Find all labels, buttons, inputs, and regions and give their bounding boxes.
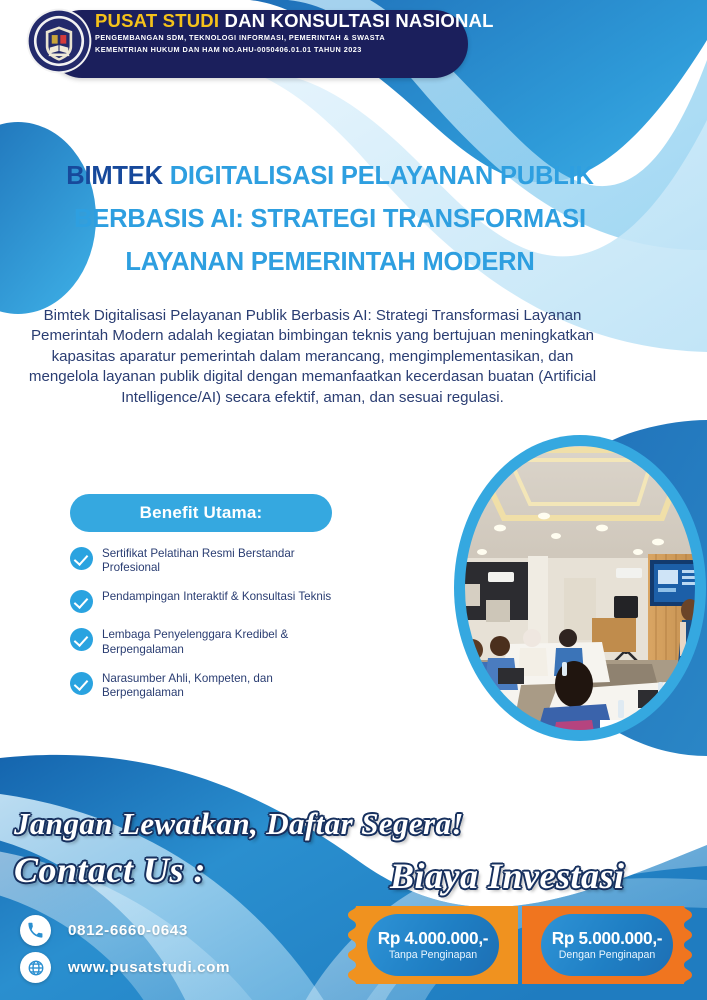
price-note: Tanpa Penginapan bbox=[389, 949, 477, 961]
price-pill: Rp 4.000.000,- Tanpa Penginapan bbox=[367, 914, 499, 976]
pricing-tickets: Rp 4.000.000,- Tanpa Penginapan Rp 5.000… bbox=[348, 906, 696, 984]
benefits-heading: Benefit Utama: bbox=[70, 494, 332, 532]
organization-name: PUSAT STUDI DAN KONSULTASI NASIONAL bbox=[95, 10, 475, 32]
header-text-block: PUSAT STUDI DAN KONSULTASI NASIONAL PENG… bbox=[95, 10, 475, 78]
title-line-1-rest: DIGITALISASI PELAYANAN PUBLIK bbox=[170, 162, 594, 190]
benefit-item: Narasumber Ahli, Kompeten, dan Berpengal… bbox=[70, 671, 400, 700]
org-name-rest: DAN KONSULTASI NASIONAL bbox=[219, 10, 493, 31]
org-name-highlight: PUSAT STUDI bbox=[95, 10, 219, 31]
title-line-2: BERBASIS AI: STRATEGI TRANSFORMASI bbox=[30, 198, 630, 241]
price-ticket[interactable]: Rp 5.000.000,- Dengan Penginapan bbox=[522, 906, 692, 984]
title-line-3: LAYANAN PEMERINTAH MODERN bbox=[30, 241, 630, 284]
header-subtitle-1: PENGEMBANGAN SDM, TEKNOLOGI INFORMASI, P… bbox=[95, 32, 475, 44]
price-note: Dengan Penginapan bbox=[559, 949, 656, 961]
benefit-item: Sertifikat Pelatihan Resmi Berstandar Pr… bbox=[70, 546, 400, 575]
price-pill: Rp 5.000.000,- Dengan Penginapan bbox=[541, 914, 673, 976]
event-photo bbox=[452, 432, 707, 744]
globe-icon bbox=[20, 952, 51, 983]
check-circle-icon bbox=[70, 547, 93, 570]
contact-us-title: Contact Us : bbox=[14, 849, 206, 891]
website-url: www.pusatstudi.com bbox=[68, 959, 230, 976]
check-circle-icon bbox=[70, 628, 93, 651]
header-subtitle-2: KEMENTRIAN HUKUM DAN HAM NO.AHU-0050406.… bbox=[95, 44, 475, 56]
benefits-section: Benefit Utama: Sertifikat Pelatihan Resm… bbox=[70, 494, 400, 700]
title-line-1: BIMTEK DIGITALISASI PELAYANAN PUBLIK bbox=[30, 155, 630, 198]
phone-icon bbox=[20, 915, 51, 946]
check-circle-icon bbox=[70, 672, 93, 695]
benefit-item: Lembaga Penyelenggara Kredibel & Berpeng… bbox=[70, 627, 400, 656]
organization-emblem-icon bbox=[26, 8, 92, 74]
title-keyword-bimtek: BIMTEK bbox=[66, 162, 169, 190]
benefit-label: Sertifikat Pelatihan Resmi Berstandar Pr… bbox=[102, 546, 352, 575]
check-circle-icon bbox=[70, 590, 93, 613]
contact-phone-row[interactable]: 0812-6660-0643 bbox=[20, 915, 188, 946]
price-amount: Rp 5.000.000,- bbox=[552, 929, 662, 948]
intro-paragraph: Bimtek Digitalisasi Pelayanan Publik Ber… bbox=[20, 306, 605, 408]
flyer-title: BIMTEK DIGITALISASI PELAYANAN PUBLIK BER… bbox=[30, 155, 630, 284]
price-section-title: Biaya Investasi bbox=[390, 855, 625, 897]
benefit-label: Pendampingan Interaktif & Konsultasi Tek… bbox=[102, 589, 331, 604]
price-amount: Rp 4.000.000,- bbox=[378, 929, 488, 948]
price-ticket[interactable]: Rp 4.000.000,- Tanpa Penginapan bbox=[348, 906, 518, 984]
phone-number: 0812-6660-0643 bbox=[68, 922, 188, 939]
contact-website-row[interactable]: www.pusatstudi.com bbox=[20, 952, 230, 983]
promotional-flyer: PUSAT STUDI DAN KONSULTASI NASIONAL PENG… bbox=[0, 0, 707, 1000]
benefit-label: Lembaga Penyelenggara Kredibel & Berpeng… bbox=[102, 627, 352, 656]
benefit-label: Narasumber Ahli, Kompeten, dan Berpengal… bbox=[102, 671, 352, 700]
benefit-item: Pendampingan Interaktif & Konsultasi Tek… bbox=[70, 589, 400, 613]
footer-tagline: Jangan Lewatkan, Daftar Segera! bbox=[14, 806, 464, 842]
